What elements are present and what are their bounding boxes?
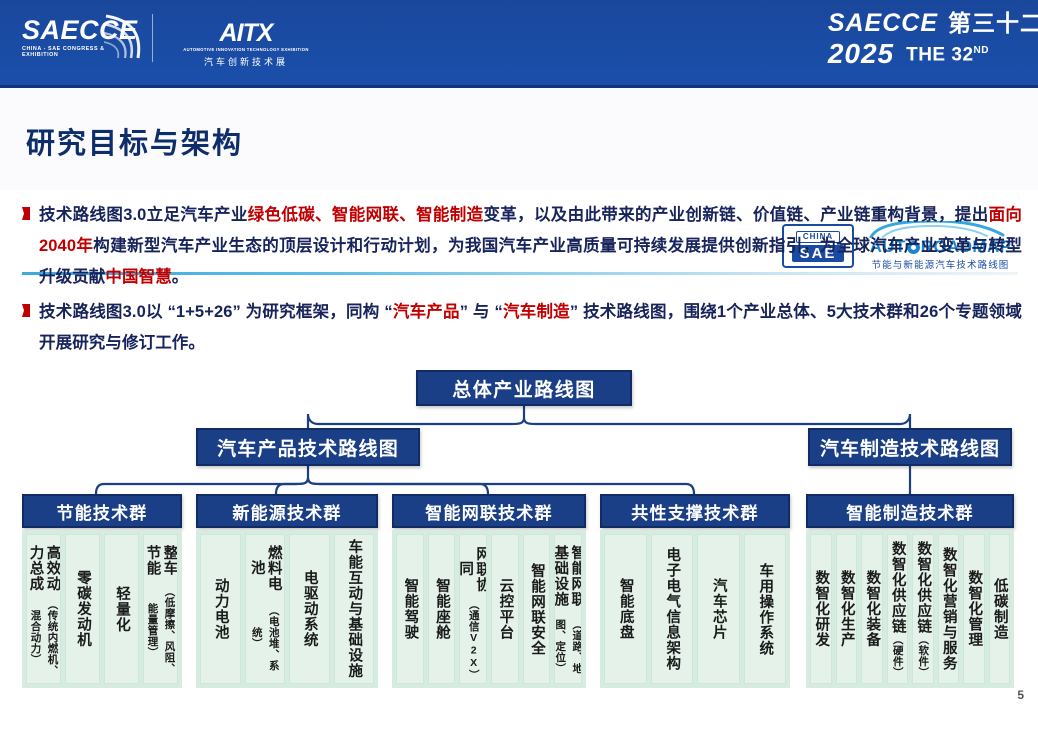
node-product-roadmap[interactable]: 汽车产品技术路线图 (196, 428, 420, 466)
leaf-topic[interactable]: 数智化供应链（硬件） (887, 534, 909, 684)
group-body-1: 动力电池燃料电池（电池堆、系统）电驱动系统车能互动与基础设施 (196, 530, 378, 688)
bullet-marker-icon (22, 207, 30, 220)
leaf-topic[interactable]: 低碳制造 (989, 534, 1011, 684)
leaf-topic[interactable]: 车能互动与基础设施 (334, 534, 375, 684)
event-year: 2025 (828, 39, 894, 69)
body-text-run: 变革，以及由此带来的产业创新链、价值链、产业链重构背景，提出 (483, 206, 988, 224)
leaf-topic[interactable]: 智能座舱 (428, 534, 456, 684)
leaf-topic-note: （通信V2X） (465, 599, 482, 679)
leaf-topic-label: 数智化装备 (863, 570, 880, 648)
bullet-marker-icon (22, 304, 30, 317)
body-text-run: 。 (172, 268, 189, 286)
leaf-topic-label: 智能驾驶 (401, 578, 418, 640)
leaf-topic-label: 智能底盘 (617, 578, 634, 640)
roadmap-architecture-diagram: 总体产业路线图 汽车产品技术路线图 汽车制造技术路线图 节能技术群 高效动力总成… (0, 362, 1038, 702)
leaf-topic-note: （软件） (914, 634, 931, 678)
leaf-topic-label: 燃料电池 (248, 539, 282, 597)
leaf-topic-label: 轻量化 (113, 586, 130, 633)
bullet-paragraph: 技术路线图3.0立足汽车产业绿色低碳、智能网联、智能制造变革，以及由此带来的产业… (39, 200, 1022, 293)
aitx-wordmark: AITX (176, 20, 316, 46)
leaf-topic[interactable]: 动力电池 (200, 534, 241, 684)
aitx-logo: AITX AUTOMOTIVE INNOVATION TECHNOLOGY EX… (176, 20, 316, 68)
leaf-topic[interactable]: 数智化管理 (963, 534, 985, 684)
leaf-topic-label: 智能座舱 (433, 578, 450, 640)
leaf-topic-label: 整车节能 (144, 539, 178, 581)
leaf-topic-label: 网联协同 (459, 539, 487, 599)
body-text-run: 技术路线图3.0立足汽车产业 (39, 206, 248, 224)
event-edition-english: THE 32ND (906, 37, 989, 69)
saecce-swoosh-icon (104, 14, 146, 60)
leaf-topic[interactable]: 智能驾驶 (396, 534, 424, 684)
leaf-topic-label: 数智化生产 (838, 570, 855, 648)
group-header-4[interactable]: 智能制造技术群 (806, 494, 1014, 528)
highlighted-text: 汽车产品 (393, 303, 460, 321)
highlighted-text: 中国智慧 (105, 268, 171, 286)
leaf-topic-label: 电子电气信息架构 (663, 547, 680, 671)
leaf-topic[interactable]: 智能网联安全 (523, 534, 551, 684)
group-body-4: 数智化研发数智化生产数智化装备数智化供应链（硬件）数智化供应链（软件）数智化营销… (806, 530, 1014, 688)
leaf-topic-note: （传统内燃机、混合动力） (27, 597, 61, 679)
leaf-topic[interactable]: 轻量化 (104, 534, 139, 684)
leaf-topic[interactable]: 数智化营销与服务 (938, 534, 960, 684)
leaf-topic[interactable]: 电驱动系统 (289, 534, 330, 684)
leaf-topic-label: 智能网联基础设施 (554, 539, 582, 613)
aitx-chinese-name: 汽车创新技术展 (176, 55, 316, 68)
leaf-topic-label: 动力电池 (212, 578, 229, 640)
leaf-topic[interactable]: 数智化生产 (836, 534, 858, 684)
group-body-2: 智能驾驶智能座舱网联协同（通信V2X）云控平台智能网联安全智能网联基础设施（道路… (392, 530, 586, 688)
leaf-topic-label: 车用操作系统 (756, 563, 773, 656)
leaf-topic[interactable]: 车用操作系统 (744, 534, 787, 684)
leaf-topic[interactable]: 网联协同（通信V2X） (459, 534, 487, 684)
leaf-topic-label: 车能互动与基础设施 (345, 539, 362, 679)
leaf-topic-label: 数智化管理 (965, 570, 982, 648)
highlighted-text: 汽车制造 (503, 303, 570, 321)
node-manufacture-roadmap[interactable]: 汽车制造技术路线图 (808, 428, 1012, 466)
event-edition-chinese: 第三十二 (948, 10, 1038, 36)
page-number: 5 (1017, 688, 1024, 702)
leaf-topic-label: 数智化供应链 (914, 541, 931, 634)
group-body-0: 高效动力总成（传统内燃机、混合动力）零碳发动机轻量化整车节能（低摩擦、风阻、能量… (22, 530, 182, 688)
leaf-topic-note: （电池堆、系统） (248, 597, 282, 679)
body-text-run: 技术路线图3.0以 “1+5+26” 为研究框架，同构 “ (39, 303, 393, 321)
leaf-topic-label: 数智化供应链 (889, 541, 906, 634)
event-brand: SAECCE (828, 10, 938, 36)
group-header-0[interactable]: 节能技术群 (22, 494, 182, 528)
aitx-subtitle: AUTOMOTIVE INNOVATION TECHNOLOGY EXHIBIT… (176, 47, 316, 52)
leaf-topic-label: 数智化研发 (812, 570, 829, 648)
leaf-topic-note: （硬件） (889, 634, 906, 678)
leaf-topic[interactable]: 高效动力总成（传统内燃机、混合动力） (26, 534, 61, 684)
leaf-topic-label: 数智化营销与服务 (940, 547, 957, 671)
leaf-topic-label: 高效动力总成 (27, 539, 61, 597)
body-text-run: ” 与 “ (460, 303, 503, 321)
group-header-2[interactable]: 智能网联技术群 (392, 494, 586, 528)
leaf-topic-label: 智能网联安全 (528, 563, 545, 656)
highlighted-text: 绿色低碳、智能网联、智能制造 (248, 206, 484, 224)
body-content: 技术路线图3.0立足汽车产业绿色低碳、智能网联、智能制造变革，以及由此带来的产业… (22, 200, 1022, 363)
leaf-topic[interactable]: 数智化研发 (810, 534, 832, 684)
leaf-topic-note: （低摩擦、风阻、能量管理） (144, 581, 178, 679)
header-divider (152, 14, 153, 62)
leaf-topic[interactable]: 数智化装备 (861, 534, 883, 684)
node-overall-roadmap[interactable]: 总体产业路线图 (416, 370, 632, 406)
leaf-topic-label: 低碳制造 (991, 578, 1008, 640)
page-title: 研究目标与架构 (26, 120, 243, 162)
event-edition-ordinal: ND (974, 45, 989, 56)
slide-bottom-margin (0, 708, 1038, 744)
event-branding-block: SAECCE 第三十二 2025 THE 32ND (828, 10, 1038, 69)
bullet-item: 技术路线图3.0立足汽车产业绿色低碳、智能网联、智能制造变革，以及由此带来的产业… (22, 200, 1022, 293)
bullet-item: 技术路线图3.0以 “1+5+26” 为研究框架，同构 “汽车产品” 与 “汽车… (22, 297, 1022, 359)
leaf-topic-label: 云控平台 (496, 578, 513, 640)
leaf-topic[interactable]: 智能底盘 (604, 534, 647, 684)
leaf-topic-label: 电驱动系统 (301, 570, 318, 648)
group-body-3: 智能底盘电子电气信息架构汽车芯片车用操作系统 (600, 530, 790, 688)
leaf-topic[interactable]: 汽车芯片 (697, 534, 740, 684)
leaf-topic-label: 零碳发动机 (74, 570, 91, 648)
bullet-paragraph: 技术路线图3.0以 “1+5+26” 为研究框架，同构 “汽车产品” 与 “汽车… (39, 297, 1022, 359)
group-header-1[interactable]: 新能源技术群 (196, 494, 378, 528)
leaf-topic[interactable]: 零碳发动机 (65, 534, 100, 684)
leaf-topic[interactable]: 智能网联基础设施（道路、地图、定位） (554, 534, 582, 684)
leaf-topic[interactable]: 数智化供应链（软件） (912, 534, 934, 684)
event-edition-english-text: THE 32 (906, 44, 973, 65)
leaf-topic-label: 汽车芯片 (710, 578, 727, 640)
leaf-topic[interactable]: 电子电气信息架构 (651, 534, 694, 684)
group-header-3[interactable]: 共性支撑技术群 (600, 494, 790, 528)
leaf-topic[interactable]: 云控平台 (491, 534, 519, 684)
leaf-topic[interactable]: 整车节能（低摩擦、风阻、能量管理） (143, 534, 178, 684)
top-header-bar: SAECCE CHINA - SAE CONGRESS & EXHIBITION… (0, 0, 1038, 88)
slide-title-area: 研究目标与架构 CHINA SAE AUT ROADMAP 节能与新能源汽车技术… (0, 88, 1038, 190)
leaf-topic[interactable]: 燃料电池（电池堆、系统） (245, 534, 286, 684)
leaf-topic-note: （道路、地图、定位） (554, 613, 582, 679)
